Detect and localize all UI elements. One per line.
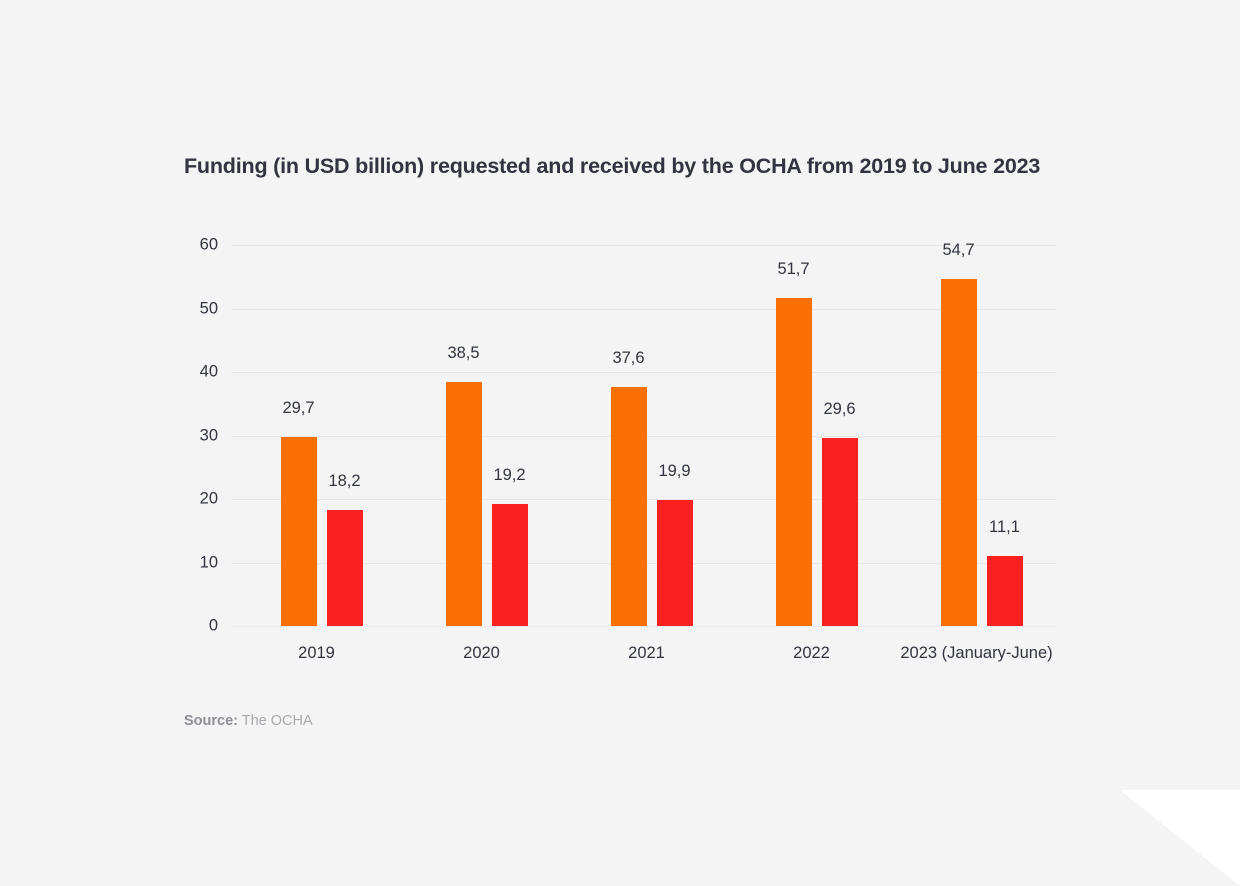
- bar-value-label: 29,7: [259, 399, 339, 418]
- bar-value-label: 38,5: [424, 344, 504, 363]
- source-label: Source:: [184, 713, 238, 729]
- bar-value-label: 18,2: [305, 472, 385, 491]
- bar-received-2020[interactable]: [492, 504, 528, 626]
- x-axis-label: 2021: [628, 644, 665, 663]
- bar-requested-2020[interactable]: [446, 382, 482, 626]
- source-note: Source: The OCHA: [184, 713, 313, 729]
- bar-received-2021[interactable]: [657, 500, 693, 626]
- bar-requested-2022[interactable]: [776, 298, 812, 626]
- bar-value-label: 51,7: [754, 260, 834, 279]
- bar-group: 54,711,12023 (January-June): [930, 245, 1024, 626]
- y-axis-tick-20: 20: [200, 490, 218, 509]
- bar-value-label: 37,6: [589, 349, 669, 368]
- bar-received-2023-january-june-[interactable]: [987, 556, 1023, 626]
- bar-value-label: 11,1: [965, 518, 1045, 537]
- gridline-0: [232, 626, 1057, 627]
- y-axis-tick-10: 10: [200, 553, 218, 572]
- source-value: The OCHA: [238, 713, 313, 729]
- bar-requested-2023-january-june-[interactable]: [941, 279, 977, 626]
- x-axis-label: 2020: [463, 644, 500, 663]
- y-axis-tick-30: 30: [200, 426, 218, 445]
- bar-requested-2019[interactable]: [281, 437, 317, 626]
- plot-area: 010203040506029,718,2201938,519,2202037,…: [232, 245, 1057, 626]
- chart-title: Funding (in USD billion) requested and r…: [184, 152, 1074, 181]
- y-axis-tick-60: 60: [200, 236, 218, 255]
- x-axis-label: 2022: [793, 644, 830, 663]
- bar-value-label: 19,9: [635, 462, 715, 481]
- bar-received-2019[interactable]: [327, 510, 363, 626]
- x-axis-label: 2023 (January-June): [900, 644, 1052, 663]
- corner-notch-decoration: [1120, 790, 1240, 886]
- bar-group: 51,729,62022: [765, 245, 859, 626]
- bar-group: 37,619,92021: [600, 245, 694, 626]
- bar-value-label: 19,2: [470, 466, 550, 485]
- y-axis-tick-50: 50: [200, 299, 218, 318]
- y-axis-tick-40: 40: [200, 363, 218, 382]
- bar-requested-2021[interactable]: [611, 387, 647, 626]
- y-axis-tick-0: 0: [209, 617, 218, 636]
- bar-received-2022[interactable]: [822, 438, 858, 626]
- x-axis-label: 2019: [298, 644, 335, 663]
- bar-group: 38,519,22020: [435, 245, 529, 626]
- bar-value-label: 29,6: [800, 400, 880, 419]
- bar-value-label: 54,7: [919, 241, 999, 260]
- bar-group: 29,718,22019: [270, 245, 364, 626]
- chart-page: Funding (in USD billion) requested and r…: [0, 0, 1240, 886]
